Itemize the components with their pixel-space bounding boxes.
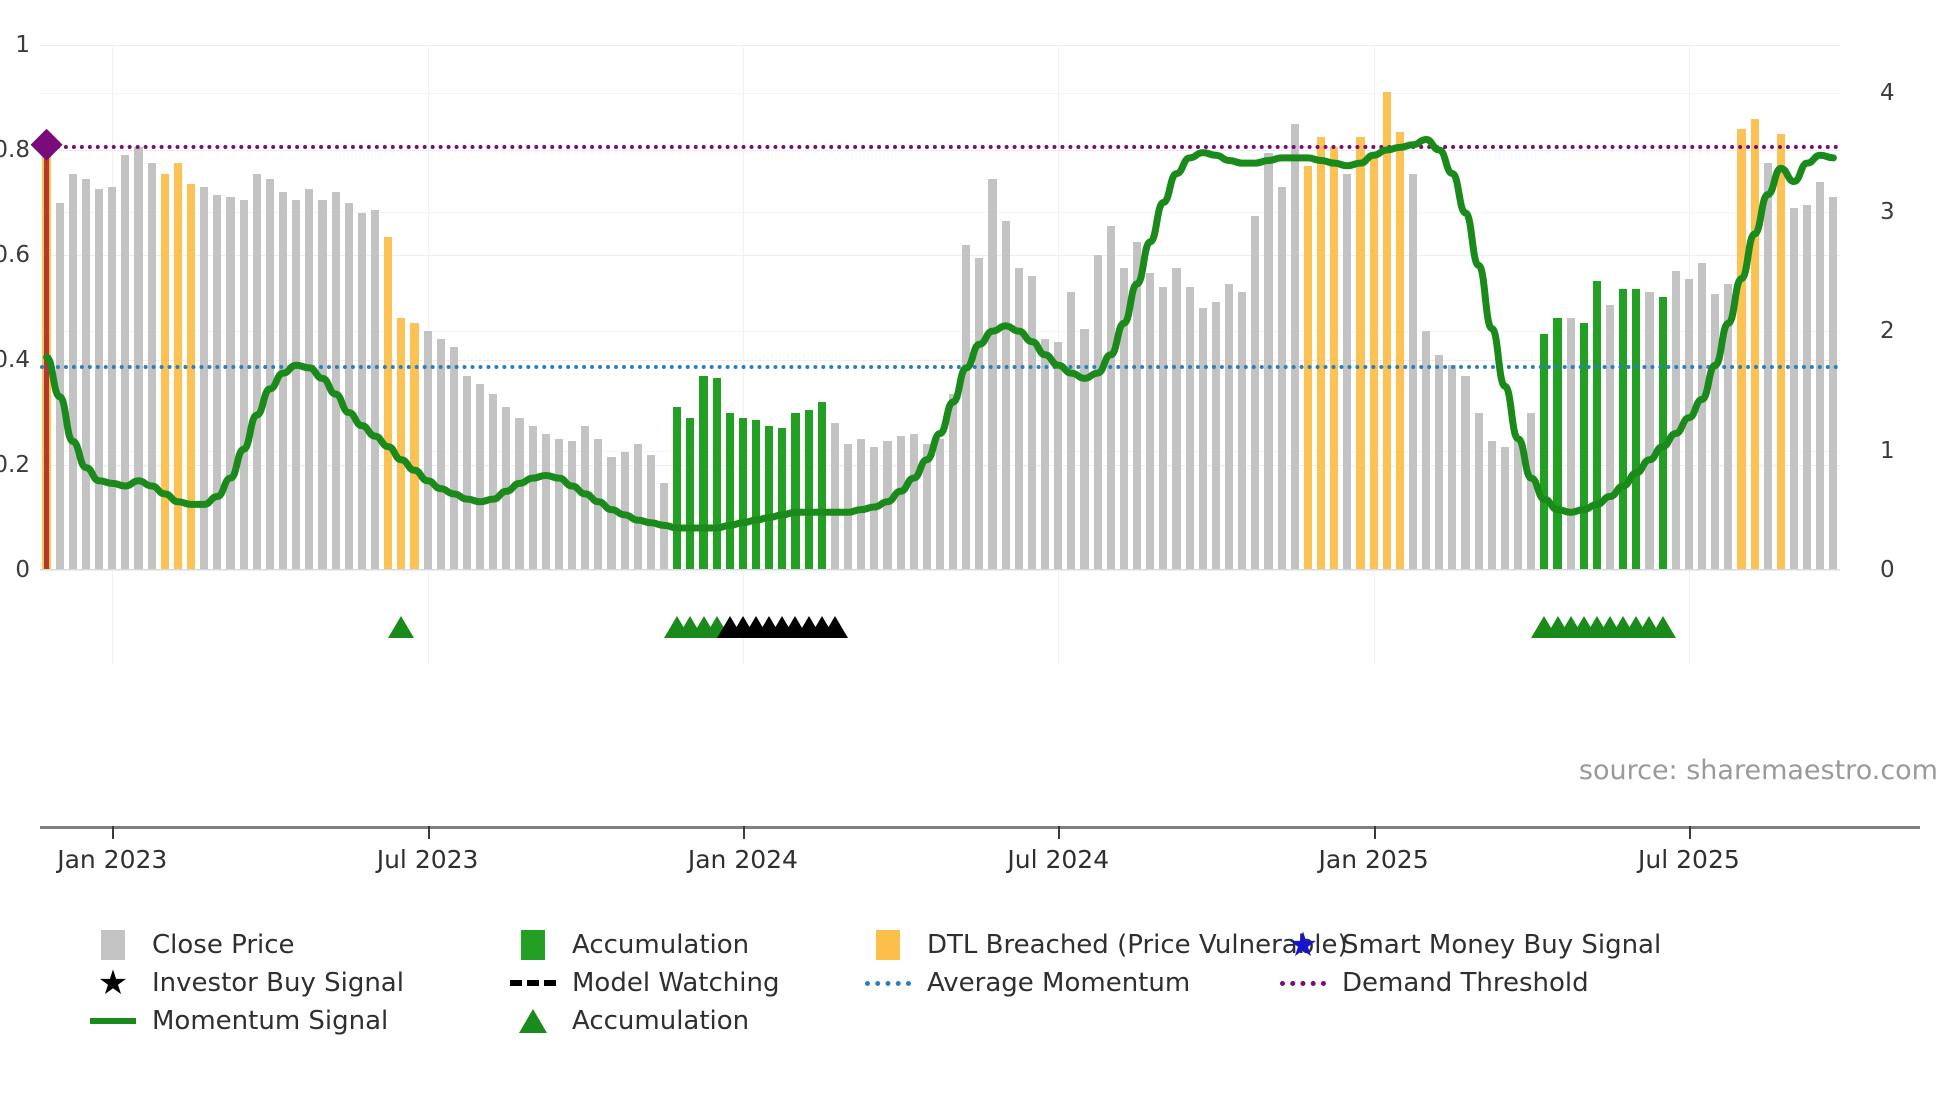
legend-swatch (863, 930, 913, 960)
price-bar (489, 394, 497, 570)
price-bar (345, 203, 353, 571)
price-bar (870, 447, 878, 570)
price-bar (634, 444, 642, 570)
legend-item[interactable]: Demand Threshold (1278, 968, 1589, 998)
price-bar (1698, 263, 1706, 570)
legend-item-label: Smart Money Buy Signal (1342, 932, 1661, 958)
y-axis-left-tick-label: 0.8 (0, 137, 30, 163)
price-bar (56, 203, 64, 571)
price-bar (121, 155, 129, 570)
price-bar (450, 347, 458, 570)
model-watching-triangle-icon (822, 616, 848, 638)
price-bar (726, 413, 734, 571)
price-bar (200, 187, 208, 570)
price-bar (1002, 221, 1010, 570)
price-bar (1146, 273, 1154, 570)
legend-item-label: Accumulation (572, 932, 749, 958)
price-bar (818, 402, 826, 570)
legend-swatch (88, 930, 138, 960)
price-bar (1567, 318, 1575, 570)
legend-item-label: Accumulation (572, 1008, 749, 1034)
price-bar (1475, 413, 1483, 571)
price-bar (1751, 119, 1759, 571)
x-axis-tick-label: Jan 2023 (57, 845, 167, 874)
x-axis-tick (112, 826, 114, 839)
price-bar (108, 187, 116, 570)
price-bar (1619, 289, 1627, 570)
price-bar (1330, 147, 1338, 570)
price-bar (844, 444, 852, 570)
price-bar (555, 439, 563, 570)
legend-item-label: Model Watching (572, 970, 779, 996)
price-bar (1264, 153, 1272, 570)
price-bar (187, 184, 195, 570)
price-bar (778, 428, 786, 570)
price-bar (739, 418, 747, 570)
price-bar (1199, 308, 1207, 571)
price-bar (660, 483, 668, 570)
price-bar (1606, 305, 1614, 570)
gridline (40, 570, 1840, 571)
price-bar (515, 418, 523, 570)
price-bar (975, 258, 983, 570)
price-bar (213, 195, 221, 570)
legend-item[interactable]: Accumulation (508, 930, 749, 960)
price-bar (1803, 205, 1811, 570)
price-bar (1527, 413, 1535, 571)
legend-item[interactable]: ★Smart Money Buy Signal (1278, 930, 1661, 960)
y-axis-right-tick-label: 1 (1880, 438, 1895, 464)
price-bar (1777, 134, 1785, 570)
chart-canvas: 00.20.40.60.81 01234 Jan 2023Jul 2023Jan… (0, 0, 1960, 1102)
x-axis-tick-label: Jul 2023 (377, 845, 479, 874)
price-bar (752, 420, 760, 570)
price-bar (647, 455, 655, 571)
price-bar (502, 407, 510, 570)
legend-swatch: ★ (88, 968, 138, 998)
y-axis-right-tick-label: 2 (1880, 318, 1895, 344)
price-bar (1672, 271, 1680, 570)
price-bar (1133, 242, 1141, 570)
price-bar (1278, 187, 1286, 570)
x-axis-tick-label: Jul 2024 (1007, 845, 1109, 874)
price-bar (82, 179, 90, 570)
price-bar (1711, 294, 1719, 570)
price-bar (923, 444, 931, 570)
accumulation-marker-row (40, 580, 1840, 660)
price-bar (1435, 355, 1443, 570)
price-bar (1370, 155, 1378, 570)
y-axis-left-tick-label: 0.6 (0, 242, 30, 268)
legend-item[interactable]: Model Watching (508, 968, 779, 998)
average-momentum-line (40, 365, 1840, 369)
price-bar (1212, 302, 1220, 570)
price-bar (226, 197, 234, 570)
price-bar (713, 378, 721, 570)
green-triangle-icon (519, 1009, 547, 1033)
price-bar (1251, 216, 1259, 570)
price-bar (936, 439, 944, 570)
source-credit: source: sharemaestro.com (1579, 755, 1938, 786)
x-axis-tick (428, 826, 430, 839)
price-bar (1343, 174, 1351, 570)
x-axis-tick-label: Jan 2025 (1319, 845, 1429, 874)
price-bar (1028, 276, 1036, 570)
price-bar (1094, 255, 1102, 570)
price-bar (332, 192, 340, 570)
green-line-icon (90, 1018, 136, 1024)
price-bar (437, 339, 445, 570)
legend-item-label: Investor Buy Signal (152, 970, 404, 996)
legend-item[interactable]: Momentum Signal (88, 1006, 388, 1036)
legend-swatch (863, 968, 913, 998)
investor-buy-signal-bar (44, 145, 48, 570)
price-bar (1461, 376, 1469, 570)
plot-area (40, 45, 1840, 570)
x-axis-tick-label: Jan 2024 (688, 845, 798, 874)
price-bar (949, 394, 957, 570)
price-bar (1553, 318, 1561, 570)
price-bar (1580, 323, 1588, 570)
price-bar (266, 179, 274, 570)
legend-item-label: Close Price (152, 932, 295, 958)
x-axis-tick-label: Jul 2025 (1638, 845, 1740, 874)
price-bar (134, 147, 142, 570)
price-bar (1107, 226, 1115, 570)
legend-swatch (508, 1006, 558, 1036)
price-bar (69, 174, 77, 570)
price-bar (476, 384, 484, 570)
x-axis-tick (1374, 826, 1376, 839)
price-bar (95, 189, 103, 570)
price-bar (1685, 279, 1693, 570)
y-axis-right-tick-label: 3 (1880, 199, 1895, 225)
price-bar (1514, 441, 1522, 570)
price-bar (1593, 281, 1601, 570)
price-bar (1790, 208, 1798, 570)
price-bar (1737, 129, 1745, 570)
price-bar (1291, 124, 1299, 570)
price-bar (910, 434, 918, 571)
price-bar (897, 436, 905, 570)
orange-square-icon (876, 930, 900, 960)
price-bar (279, 192, 287, 570)
legend-item-label: Momentum Signal (152, 1008, 388, 1034)
price-bar (1225, 284, 1233, 570)
x-axis-tick (1058, 826, 1060, 839)
price-bar (1317, 137, 1325, 570)
legend-swatch (88, 1006, 138, 1036)
price-bar (673, 407, 681, 570)
y-axis-right-tick-label: 4 (1880, 80, 1895, 106)
price-bar (542, 434, 550, 571)
legend-item[interactable]: DTL Breached (Price Vulnerable) (863, 930, 1348, 960)
legend-item[interactable]: Close Price (88, 930, 295, 960)
price-bar (594, 439, 602, 570)
price-bar (1488, 441, 1496, 570)
price-bar (1724, 284, 1732, 570)
chart-legend: Close Price★Investor Buy SignalMomentum … (88, 930, 1928, 1070)
accumulation-triangle-icon (1650, 616, 1676, 638)
x-axis-line (40, 826, 1920, 829)
price-bar (1448, 365, 1456, 570)
price-bar (1172, 268, 1180, 570)
price-bar (1501, 447, 1509, 570)
price-bar (1409, 174, 1417, 570)
price-bar (831, 423, 839, 570)
black-star-icon: ★ (98, 966, 128, 1000)
price-bar (1186, 287, 1194, 571)
grey-square-icon (101, 930, 125, 960)
price-bar (857, 439, 865, 570)
y-axis-left-tick-label: 0 (15, 557, 30, 583)
legend-item-label: Demand Threshold (1342, 970, 1589, 996)
price-bar (371, 210, 379, 570)
price-bar (607, 457, 615, 570)
price-bar (699, 376, 707, 570)
price-bar (1159, 287, 1167, 571)
accumulation-triangle-icon (388, 616, 414, 638)
price-bar (1645, 292, 1653, 570)
price-bar (1067, 292, 1075, 570)
price-bar (988, 179, 996, 570)
blue-star-icon: ★ (1288, 928, 1318, 962)
price-bar (1816, 182, 1824, 571)
price-bar (791, 413, 799, 571)
price-bar (805, 410, 813, 570)
price-bar (463, 376, 471, 570)
price-bar (1396, 132, 1404, 570)
legend-item[interactable]: Accumulation (508, 1006, 749, 1036)
price-bar (1041, 339, 1049, 570)
price-bar (962, 245, 970, 571)
price-bar (1054, 342, 1062, 570)
purple-dotted-icon (1280, 981, 1326, 986)
legend-swatch (508, 968, 558, 998)
price-bar (358, 213, 366, 570)
price-bar (529, 426, 537, 570)
price-bar (1632, 289, 1640, 570)
price-bar (581, 426, 589, 570)
price-bar (1659, 297, 1667, 570)
price-bar (384, 237, 392, 570)
price-bar (292, 200, 300, 570)
y-axis-right-tick-label: 0 (1880, 557, 1895, 583)
legend-item[interactable]: Average Momentum (863, 968, 1190, 998)
green-square-icon (521, 930, 545, 960)
x-axis-tick (1689, 826, 1691, 839)
price-bar (686, 418, 694, 570)
price-bar (1829, 197, 1837, 570)
price-bar (318, 200, 326, 570)
legend-swatch (1278, 968, 1328, 998)
price-bar (305, 189, 313, 570)
price-bar (883, 441, 891, 570)
legend-item[interactable]: ★Investor Buy Signal (88, 968, 404, 998)
price-bar (1015, 268, 1023, 570)
price-bar (161, 174, 169, 570)
price-bar (240, 200, 248, 570)
price-bar (765, 426, 773, 570)
y-axis-left-tick-label: 0.4 (0, 347, 30, 373)
y-axis-left-tick-label: 0.2 (0, 452, 30, 478)
legend-swatch: ★ (1278, 930, 1328, 960)
plot-baseline (40, 569, 1840, 570)
price-bar (568, 441, 576, 570)
price-bar (410, 323, 418, 570)
price-bars (40, 45, 1840, 570)
price-bar (1238, 292, 1246, 570)
legend-swatch (508, 930, 558, 960)
price-bar (1383, 92, 1391, 570)
x-axis-tick (743, 826, 745, 839)
blue-dotted-icon (865, 981, 911, 986)
price-bar (1356, 137, 1364, 570)
legend-item-label: Average Momentum (927, 970, 1190, 996)
y-axis-left-tick-label: 1 (15, 32, 30, 58)
price-bar (1120, 268, 1128, 570)
price-bar (621, 452, 629, 570)
black-dash-icon (510, 980, 556, 986)
demand-threshold-line (40, 145, 1840, 149)
price-bar (397, 318, 405, 570)
price-bar (253, 174, 261, 570)
